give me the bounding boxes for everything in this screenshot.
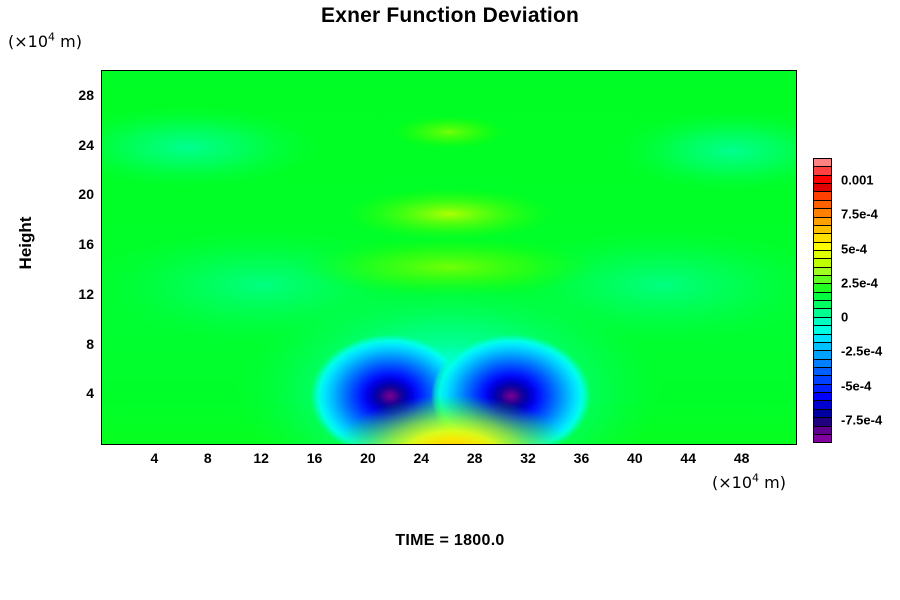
colorbar-label-layer: 0.0017.5e-45e-42.5e-40-2.5e-4-5e-4-7.5e-… [841,158,900,443]
weak-positive-upper [344,188,554,240]
x-tick-label-8: 8 [204,450,212,466]
colorbar-tick-label-6: -5e-4 [841,378,871,393]
colorbar-band-20 [814,326,831,334]
x-unit-suffix: m) [759,473,786,492]
colorbar-band-7 [814,218,831,226]
y-tick-label-16: 16 [56,236,94,252]
colorbar-band-0 [814,159,831,167]
colorbar-band-33 [814,435,831,442]
colorbar-band-5 [814,201,831,209]
colorbar-band-22 [814,343,831,351]
y-unit-prefix: (×10 [8,32,48,51]
y-tick-label-28: 28 [56,87,94,103]
colorbar-tick-label-5: -2.5e-4 [841,344,882,359]
colorbar-band-21 [814,335,831,343]
x-axis-tick-layer: 4812162024283236404448 [101,450,795,470]
colorbar-band-27 [814,385,831,393]
colorbar-band-4 [814,192,831,200]
colorbar-band-3 [814,184,831,192]
y-unit-suffix: m) [55,32,82,51]
colorbar-tick-label-3: 2.5e-4 [841,275,878,290]
colorbar-band-13 [814,268,831,276]
y-tick-label-20: 20 [56,186,94,202]
y-tick-label-24: 24 [56,137,94,153]
colorbar-band-23 [814,351,831,359]
colorbar-band-26 [814,376,831,384]
x-axis-unit-label: (×104 m) [712,473,786,492]
contour-field [102,71,796,444]
colorbar-band-30 [814,410,831,418]
colorbar-tick-label-4: 0 [841,310,848,325]
y-tick-label-12: 12 [56,286,94,302]
x-tick-label-24: 24 [414,450,430,466]
colorbar-band-28 [814,393,831,401]
page-title: Exner Function Deviation [0,4,900,28]
x-unit-exponent: 4 [752,472,759,485]
x-tick-label-44: 44 [680,450,696,466]
colorbar-band-1 [814,167,831,175]
x-tick-label-40: 40 [627,450,643,466]
x-tick-label-36: 36 [574,450,590,466]
x-tick-label-4: 4 [150,450,158,466]
y-axis-title: Height [16,203,36,283]
colorbar-band-8 [814,226,831,234]
colorbar-band-18 [814,309,831,317]
colorbar-tick-label-2: 5e-4 [841,241,867,256]
colorbar-band-11 [814,251,831,259]
x-tick-label-32: 32 [520,450,536,466]
y-unit-exponent: 4 [48,31,55,44]
colorbar-band-6 [814,209,831,217]
weak-positive-top [391,115,507,149]
x-tick-label-20: 20 [360,450,376,466]
x-tick-label-16: 16 [307,450,323,466]
x-tick-label-28: 28 [467,450,483,466]
colorbar-tick-label-0: 0.001 [841,173,874,188]
y-axis-unit-label: (×104 m) [8,32,82,51]
colorbar-strip[interactable] [813,158,832,443]
colorbar-band-29 [814,401,831,409]
x-tick-label-12: 12 [253,450,269,466]
contour-plot-area[interactable] [101,70,797,445]
y-axis-tick-layer: 481216202428 [56,70,94,443]
time-label: TIME = 1800.0 [0,532,900,550]
colorbar-band-19 [814,318,831,326]
colorbar-band-2 [814,176,831,184]
colorbar-band-32 [814,427,831,435]
x-tick-label-48: 48 [734,450,750,466]
colorbar-band-25 [814,368,831,376]
colorbar-band-14 [814,276,831,284]
colorbar-band-31 [814,418,831,426]
colorbar-band-24 [814,360,831,368]
x-unit-prefix: (×10 [712,473,752,492]
colorbar-band-10 [814,243,831,251]
y-tick-label-4: 4 [56,385,94,401]
colorbar-band-15 [814,284,831,292]
colorbar-band-12 [814,259,831,267]
colorbar-band-16 [814,293,831,301]
colorbar-tick-label-1: 7.5e-4 [841,207,878,222]
y-tick-label-8: 8 [56,336,94,352]
colorbar[interactable]: 0.0017.5e-45e-42.5e-40-2.5e-4-5e-4-7.5e-… [813,158,893,446]
colorbar-tick-label-7: -7.5e-4 [841,413,882,428]
colorbar-band-9 [814,234,831,242]
colorbar-band-17 [814,301,831,309]
